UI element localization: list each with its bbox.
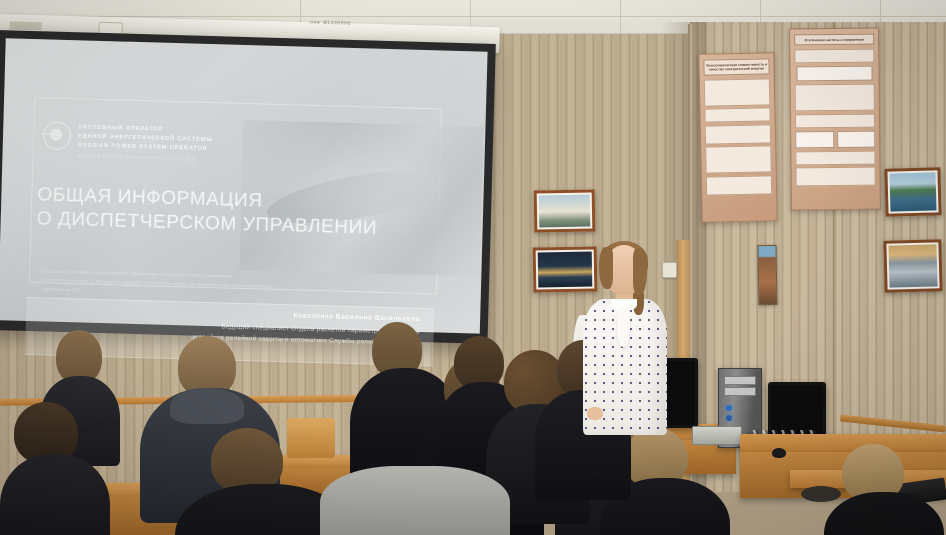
classroom-scene: инв №1535006 СИСТЕМНЫЙ ОПЕРАТОР ЕДИНОЙ Э… bbox=[0, 0, 946, 535]
framed-photo-colonnade bbox=[534, 189, 596, 232]
presenter bbox=[575, 245, 671, 435]
framed-photo-embankment bbox=[883, 239, 942, 293]
wall-calendar-poster bbox=[757, 245, 777, 305]
housing-sticker bbox=[10, 21, 42, 30]
student-foreground-grey-hoodie bbox=[320, 466, 510, 535]
logo-emblem-icon bbox=[43, 121, 72, 150]
presenter-hair-right bbox=[633, 249, 647, 295]
student-workstation bbox=[824, 444, 944, 535]
presenter-hand bbox=[587, 407, 603, 420]
projection-screen: СИСТЕМНЫЙ ОПЕРАТОР ЕДИНОЙ ЭНЕРГЕТИЧЕСКОЙ… bbox=[0, 30, 496, 344]
framed-photo-waterfront bbox=[884, 167, 941, 216]
poster-frequency-voltage-deviation: Отклонения частоты и напряжения bbox=[789, 28, 881, 211]
poster-electromagnetic-compatibility: Электромагнитная совместимость и качеств… bbox=[698, 52, 778, 223]
poster-2-title: Отклонения частоты и напряжения bbox=[794, 34, 874, 46]
student-foreground-left bbox=[0, 402, 110, 535]
company-logo: СИСТЕМНЫЙ ОПЕРАТОР ЕДИНОЙ ЭНЕРГЕТИЧЕСКОЙ… bbox=[42, 121, 212, 163]
inventory-label: инв №1535006 bbox=[310, 19, 351, 26]
presentation-slide: СИСТЕМНЫЙ ОПЕРАТОР ЕДИНОЙ ЭНЕРГЕТИЧЕСКОЙ… bbox=[0, 38, 488, 333]
workstation-mouse[interactable] bbox=[772, 448, 786, 458]
presenter-hair-left bbox=[599, 247, 613, 289]
poster-1-title: Электромагнитная совместимость и качеств… bbox=[703, 58, 769, 75]
presenter-neck-tie bbox=[617, 307, 630, 347]
